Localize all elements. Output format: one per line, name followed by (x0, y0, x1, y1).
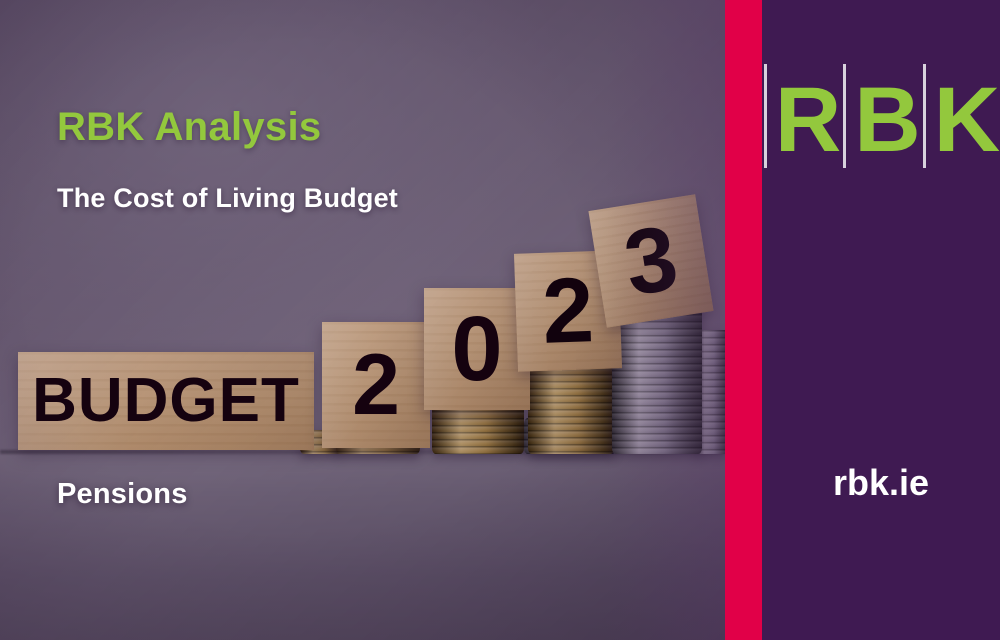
rbk-logo-letter-k-glyph: K (934, 69, 998, 171)
topic-label: Pensions (57, 478, 188, 511)
magenta-divider (725, 0, 762, 640)
brand-panel: R B K rbk.ie (762, 0, 1000, 640)
website-url[interactable]: rbk.ie (762, 462, 1000, 504)
rbk-logo-letter-b-glyph: B (854, 69, 918, 171)
digit-block-3: 3 (588, 194, 713, 327)
logo-accent-bar-icon (843, 64, 846, 168)
rbk-budget-banner: BUDGET 2 0 2 3 RBK Analysis The Cost of … (0, 0, 1000, 640)
digit-block-0: 0 (424, 288, 530, 410)
digit-block-3-label: 3 (619, 212, 684, 311)
rbk-logo-letter-k: K (921, 74, 998, 166)
rbk-logo-letter-r: R (762, 74, 839, 166)
budget-photo: BUDGET 2 0 2 3 RBK Analysis The Cost of … (0, 0, 725, 640)
rbk-logo-letter-b: B (841, 74, 918, 166)
coin-stack-3 (528, 360, 614, 454)
logo-accent-bar-icon (764, 64, 767, 168)
digit-block-2-label: 2 (352, 342, 400, 428)
logo-accent-bar-icon (923, 64, 926, 168)
digit-block-2b-label: 2 (541, 264, 595, 358)
rbk-logo: R B K (762, 74, 1000, 166)
digit-block-2: 2 (322, 322, 430, 448)
coin-stack-2 (432, 404, 524, 454)
digit-block-0-label: 0 (451, 303, 502, 395)
budget-plank-label: BUDGET (32, 370, 300, 432)
page-subtitle: The Cost of Living Budget (57, 183, 398, 214)
page-title: RBK Analysis (57, 105, 321, 150)
rbk-logo-letter-r-glyph: R (775, 69, 839, 171)
budget-plank: BUDGET (18, 352, 314, 450)
